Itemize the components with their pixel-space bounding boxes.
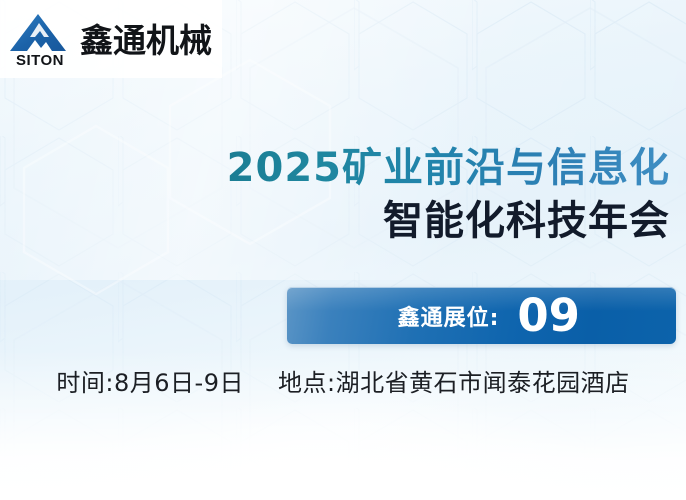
event-time: 时间:8月6日-9日 xyxy=(56,368,244,398)
booth-number: 09 xyxy=(517,293,580,338)
event-poster: SITON 鑫通机械 2025矿业前沿与信息化 智能化科技年会 鑫通展位: 09… xyxy=(0,0,686,500)
booth-banner: 鑫通展位: 09 xyxy=(287,287,676,344)
headline-block: 2025矿业前沿与信息化 智能化科技年会 xyxy=(0,143,670,247)
brand-name-chinese: 鑫通机械 xyxy=(80,24,212,57)
mountain-logo-icon: SITON xyxy=(8,11,74,67)
headline-line-1: 2025矿业前沿与信息化 xyxy=(0,143,670,193)
event-meta-row: 时间:8月6日-9日 地点:湖北省黄石市闻泰花园酒店 xyxy=(0,368,686,398)
headline-line-2: 智能化科技年会 xyxy=(0,195,670,247)
svg-text:SITON: SITON xyxy=(16,52,64,67)
event-location: 地点:湖北省黄石市闻泰花园酒店 xyxy=(278,368,630,398)
brand-logo: SITON 鑫通机械 xyxy=(0,0,222,78)
booth-label: 鑫通展位: xyxy=(398,300,500,332)
